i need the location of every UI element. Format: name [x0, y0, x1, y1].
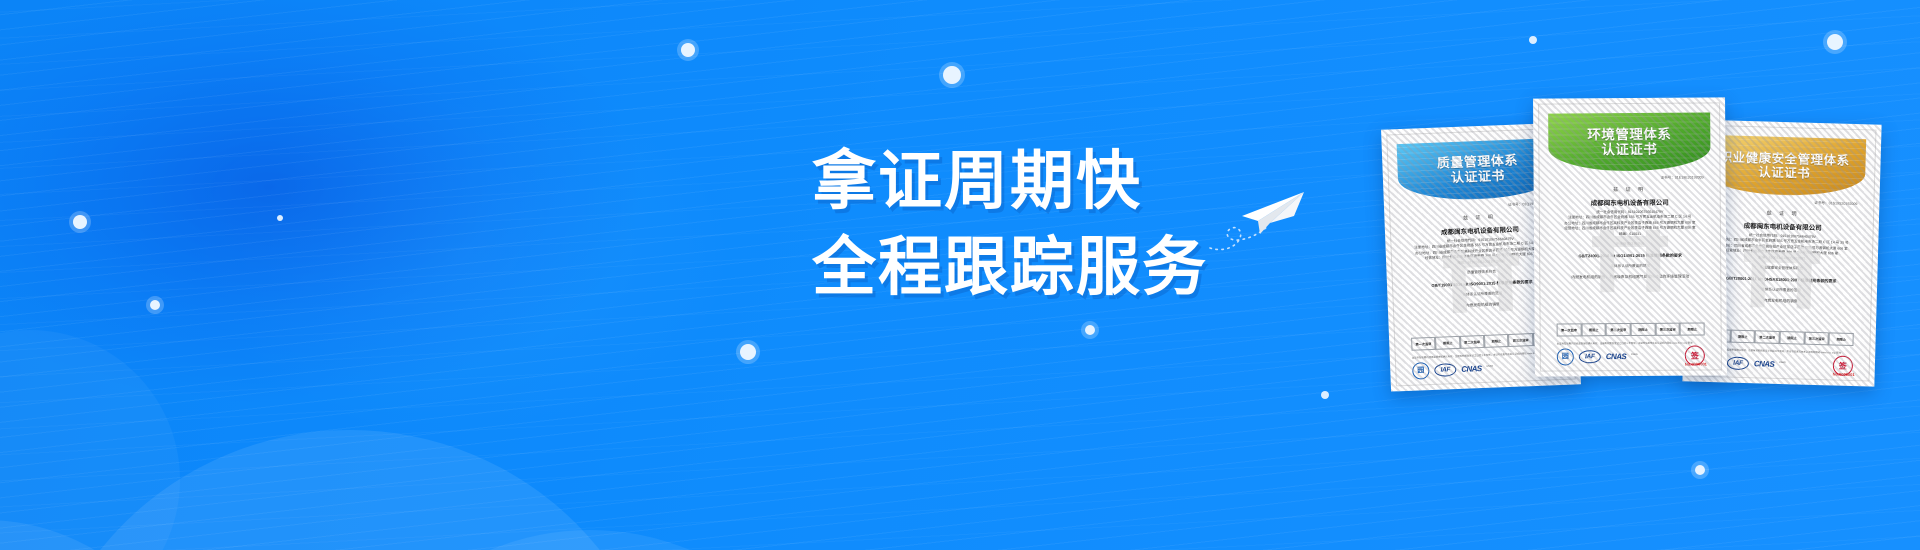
serial-value: 01S19S20192009: [1829, 201, 1858, 206]
table-cell: 期限止: [1631, 323, 1656, 336]
table-cell: 第一次监审: [1557, 323, 1582, 336]
certificate-header: 环境管理体系 认证证书: [1548, 112, 1710, 171]
certificate-number: No.0000001: [1685, 361, 1707, 366]
table-cell: 第一次监审: [1411, 337, 1436, 351]
serial-label: 证书号：: [1508, 202, 1523, 207]
proof-title: 兹 证 明: [1709, 208, 1857, 219]
certificate-watermark: [1742, 245, 1820, 309]
iaf-logo-icon: IAF: [1579, 350, 1601, 363]
certificate-group: 质量管理体系 认证证书 证书号：01Q19Q20192009 兹 证 明 成都闽…: [1386, 92, 1906, 402]
decorative-dot: [277, 215, 283, 221]
china-accreditation-seal-icon: 园: [1412, 362, 1430, 380]
table-cell: 期限止: [1484, 334, 1509, 348]
decorative-dot: [1321, 391, 1329, 399]
table-cell: 第二次监审: [1460, 335, 1485, 349]
accreditation-text: CNAS: [1486, 366, 1493, 370]
certificate-title-line2: 认证证书: [1601, 142, 1657, 157]
iaf-logo-icon: IAF: [1434, 363, 1456, 377]
headline-line-1: 拿证周期快: [812, 138, 1208, 224]
proof-title: 兹 证 明: [1556, 185, 1704, 193]
table-cell: 第三次监审: [1804, 332, 1829, 346]
table-cell: 第三次监审: [1508, 333, 1533, 347]
cnas-logo-icon: CNAS: [1461, 364, 1482, 374]
accreditation-text: CNAS: [1631, 354, 1637, 357]
table-cell: 第二次监审: [1606, 323, 1631, 336]
table-cell: 第三次监审: [1655, 323, 1680, 336]
decorative-dot: [1529, 36, 1537, 44]
promo-banner: 拿证周期快 全程跟踪服务 质量管理体系 认证证书 证书号：01Q: [0, 0, 1920, 550]
certificate-title-line2: 认证证书: [1451, 169, 1506, 186]
serial-label: 证书号：: [1814, 201, 1828, 205]
certificate-watermark: [1592, 229, 1668, 292]
paper-plane-icon: [1196, 178, 1316, 258]
company-name: 成都闽东电机设备有限公司: [1556, 196, 1704, 207]
decorative-dot: [150, 300, 160, 310]
certificate-watermark: [1443, 249, 1521, 314]
decorative-dot: [681, 43, 695, 57]
table-cell: 期限止: [1779, 331, 1804, 345]
certificate-environment[interactable]: 环境管理体系 认证证书 证书号：01E19E20192009 兹 证 明 成都闽…: [1533, 97, 1727, 376]
audit-table: 第一次监审 期限止 第二次监审 期限止 第三次监审 期限止: [1557, 322, 1705, 336]
certificate-title-line2: 认证证书: [1758, 165, 1810, 180]
decorative-dot: [1085, 325, 1095, 335]
accreditation-text: CNAS: [1779, 362, 1785, 366]
table-cell: 期限止: [1829, 332, 1854, 346]
table-cell: 期限止: [1730, 330, 1755, 344]
china-accreditation-seal-icon: 园: [1557, 348, 1574, 365]
headline-line-2: 全程跟踪服务: [812, 224, 1208, 310]
headline: 拿证周期快 全程跟踪服务: [812, 138, 1208, 310]
certificate-title-line1: 环境管理体系: [1587, 127, 1671, 143]
table-cell: 期限止: [1680, 322, 1705, 335]
cnas-logo-icon: CNAS: [1606, 352, 1626, 361]
decorative-dot: [1695, 465, 1705, 475]
company-name: 成都闽东电机设备有限公司: [1709, 219, 1857, 233]
decorative-dot: [740, 344, 756, 360]
decorative-dot: [73, 215, 87, 229]
decorative-dot: [943, 66, 961, 84]
table-cell: 期限止: [1581, 323, 1606, 336]
certificate-number: No.0000001: [1833, 371, 1855, 377]
serial-label: 证书号：: [1660, 176, 1674, 180]
serial-value: 01E19E20192009: [1675, 175, 1704, 179]
iaf-logo-icon: IAF: [1727, 356, 1749, 370]
accreditation-logos: 园 IAF CNAS CNAS 签: [1557, 345, 1705, 366]
cnas-logo-icon: CNAS: [1754, 359, 1775, 369]
decorative-dot: [1827, 34, 1843, 50]
table-cell: 第二次监审: [1755, 330, 1780, 344]
table-cell: 期限止: [1435, 336, 1460, 350]
proof-title: 兹 证 明: [1406, 211, 1552, 224]
